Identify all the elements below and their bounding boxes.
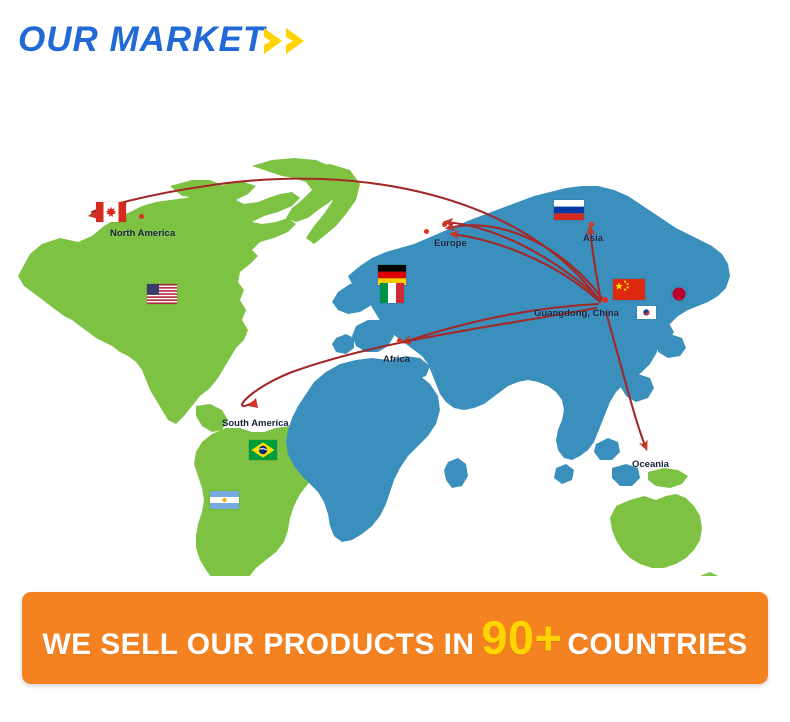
world-map: North America South America Europe Afric… xyxy=(0,76,790,576)
label-africa: Africa xyxy=(383,354,410,365)
marker-south-america xyxy=(251,401,256,406)
flag-germany-icon xyxy=(378,265,406,285)
label-south-america: South America xyxy=(222,418,289,429)
page-title: OUR MARKET xyxy=(18,20,265,60)
banner-country-count: 90+ xyxy=(474,614,567,661)
marker-europe-2 xyxy=(424,229,429,234)
banner-prefix: WE SELL OUR PRODUCTS IN xyxy=(42,628,474,662)
label-europe: Europe xyxy=(434,238,467,249)
banner-text: WE SELL OUR PRODUCTS IN 90+ COUNTRIES xyxy=(42,614,747,662)
marker-europe-1 xyxy=(442,222,447,227)
label-asia: Asia xyxy=(583,233,603,244)
flag-japan-icon xyxy=(672,287,686,301)
flag-south-korea-icon xyxy=(637,306,656,319)
sales-banner: WE SELL OUR PRODUCTS IN 90+ COUNTRIES xyxy=(22,592,768,684)
flag-argentina-icon xyxy=(210,491,239,509)
marker-north-america xyxy=(139,214,144,219)
label-oceania: Oceania xyxy=(632,459,669,470)
flag-russia-icon xyxy=(554,200,584,220)
label-guangdong-china: Guangdong, China xyxy=(534,308,619,319)
marker-asia xyxy=(589,222,594,227)
marker-hub-guangdong xyxy=(602,297,608,303)
world-map-svg xyxy=(0,76,790,576)
label-north-america: North America xyxy=(110,228,175,239)
flag-canada-icon xyxy=(96,202,126,222)
marker-africa xyxy=(397,338,402,343)
double-chevron-right-icon xyxy=(262,26,314,56)
flag-italy-icon xyxy=(380,283,404,303)
flag-china-icon xyxy=(613,279,645,300)
page-header: OUR MARKET xyxy=(0,0,790,78)
banner-suffix: COUNTRIES xyxy=(567,628,747,662)
flag-usa-icon xyxy=(147,284,177,304)
flag-brazil-icon xyxy=(249,440,277,460)
